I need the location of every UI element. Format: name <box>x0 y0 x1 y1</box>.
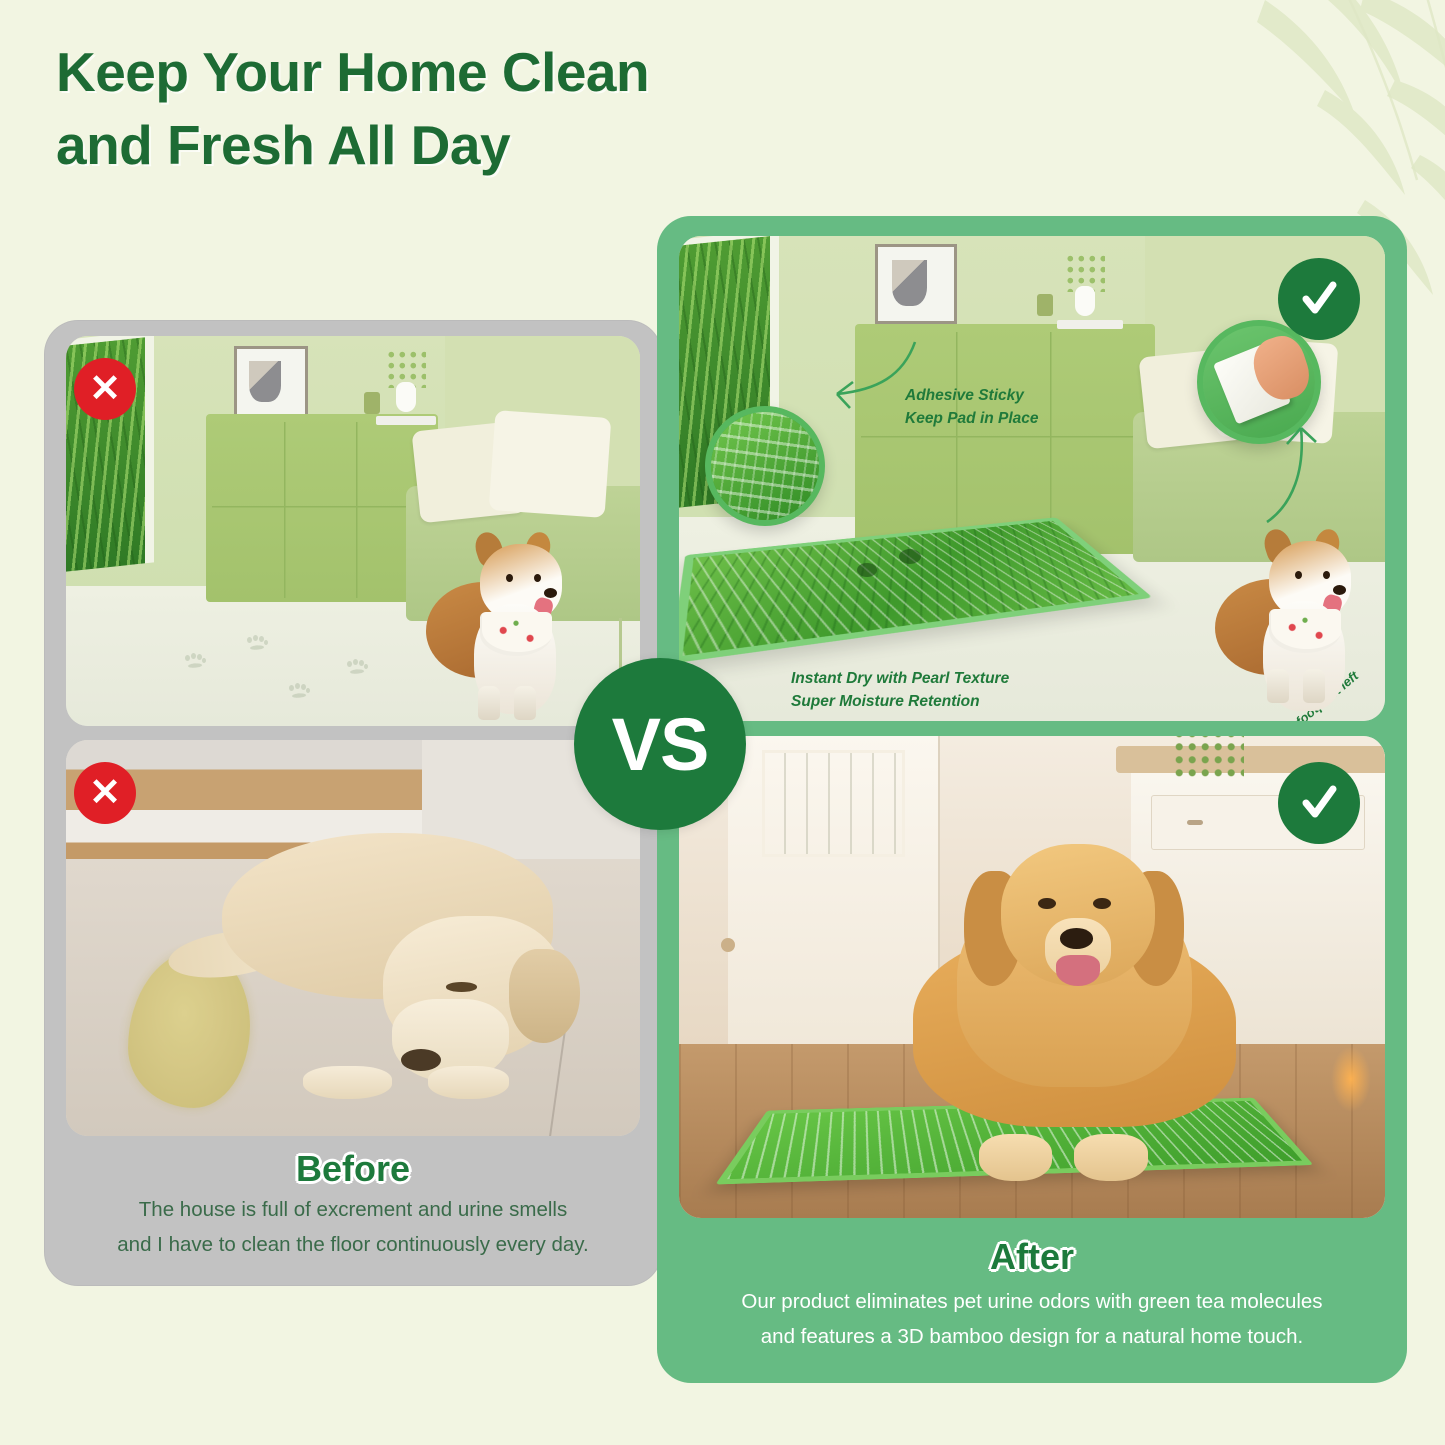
instant-dry-line-2: Super Moisture Retention <box>791 693 980 710</box>
before-room-illustration <box>66 336 640 726</box>
after-caption-title: After <box>657 1236 1407 1278</box>
corgi-dog <box>1211 527 1351 703</box>
bamboo-texture-zoom-circle <box>705 406 825 526</box>
before-body-line-2: and I have to clean the floor continuous… <box>117 1233 588 1256</box>
page-title: Keep Your Home Clean and Fresh All Day <box>56 36 876 181</box>
cup-decor <box>364 392 380 414</box>
wall-art-frame <box>875 244 957 324</box>
check-badge-icon <box>1278 762 1360 844</box>
paw-print <box>184 654 206 670</box>
check-icon <box>1296 780 1342 826</box>
vase-decor <box>396 382 416 412</box>
instant-dry-line-1: Instant Dry with Pearl Texture <box>791 670 1009 687</box>
corgi-dog <box>422 530 572 720</box>
sad-golden-retriever <box>186 827 634 1104</box>
check-badge-icon <box>1278 258 1360 340</box>
books-decor <box>376 416 436 425</box>
vase-decor <box>1075 286 1095 316</box>
adhesive-line-2: Keep Pad in Place <box>905 410 1039 427</box>
after-body-line-1: Our product eliminates pet urine odors w… <box>741 1290 1322 1313</box>
wall-art-frame <box>234 346 308 418</box>
adhesive-annotation: Adhesive Sticky Keep Pad in Place <box>905 384 1039 431</box>
vs-badge: VS <box>574 658 746 830</box>
books-decor <box>1057 320 1123 329</box>
headline-line-2: and Fresh All Day <box>56 109 876 182</box>
cross-badge-icon: ✕ <box>74 358 136 420</box>
before-panel <box>44 320 662 1286</box>
cabinet <box>206 414 438 602</box>
paw-print <box>346 660 368 676</box>
cup-decor <box>1037 294 1053 316</box>
warm-lamp-glow <box>1331 1046 1371 1112</box>
happy-golden-retriever <box>891 837 1258 1174</box>
headline-line-1: Keep Your Home Clean <box>56 36 876 109</box>
check-icon <box>1296 276 1342 322</box>
before-caption-title: Before <box>44 1148 662 1190</box>
before-accident-photo <box>66 740 640 1136</box>
before-body-line-1: The house is full of excrement and urine… <box>139 1198 567 1221</box>
after-caption-body: Our product eliminates pet urine odors w… <box>657 1284 1407 1355</box>
arrow-to-adhesive-icon <box>1247 412 1337 532</box>
paw-print <box>246 636 268 652</box>
before-caption-body: The house is full of excrement and urine… <box>44 1192 662 1263</box>
cross-badge-icon: ✕ <box>74 762 136 824</box>
paw-print <box>288 684 310 700</box>
adhesive-line-1: Adhesive Sticky <box>905 387 1024 404</box>
after-body-line-2: and features a 3D bamboo design for a na… <box>761 1325 1303 1348</box>
instant-dry-annotation: Instant Dry with Pearl Texture Super Moi… <box>791 667 1009 714</box>
plant-icon <box>1174 736 1244 782</box>
